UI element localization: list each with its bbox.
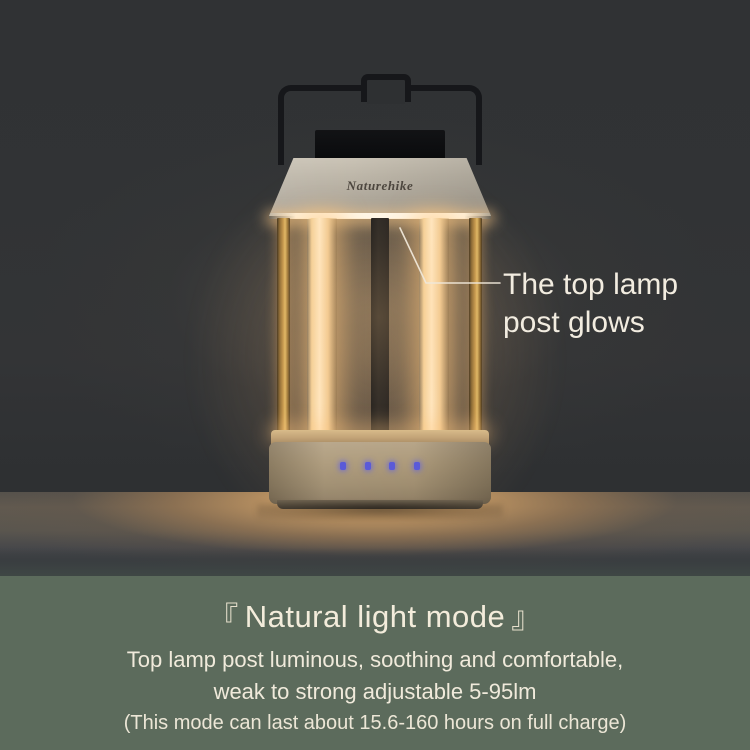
caption-line-1: Top lamp post luminous, soothing and com… [0,636,750,676]
lamp-post-left-outer [277,218,290,438]
led-indicator [340,462,346,470]
table-front-shadow [0,548,750,576]
camping-lantern: Naturehike [255,60,505,510]
product-feature-image: Naturehike The [0,0,750,750]
handle-peak-inner [367,90,405,104]
callout-line-2: post glows [503,304,743,342]
lamp-post-center-dark [371,218,389,438]
battery-led-indicators [340,462,420,470]
bracket-close: 』 [505,602,548,635]
caption-title-text: Natural light mode [245,599,506,634]
bracket-open: 『 [202,602,245,635]
caption-panel: 『Natural light mode』 Top lamp post lumin… [0,576,750,750]
caption-title: 『Natural light mode』 [0,576,750,636]
lamp-post-right-outer [469,218,482,438]
brand-logo: Naturehike [269,178,491,194]
caption-note: (This mode can last about 15.6-160 hours… [0,708,750,738]
handle-peak [361,74,411,102]
lamp-post-left-lit [307,218,337,438]
top-cap-panel [315,130,445,160]
led-indicator [414,462,420,470]
product-photo: Naturehike The [0,0,750,576]
base-shading [269,442,491,504]
callout-line-1: The top lamp [503,268,678,301]
caption-line-2: weak to strong adjustable 5-95lm [0,676,750,708]
lamp-post-right-lit [419,218,449,438]
callout-label: The top lamp post glows [503,266,743,342]
led-indicator [365,462,371,470]
base-cast-shadow [257,504,503,520]
led-indicator [389,462,395,470]
